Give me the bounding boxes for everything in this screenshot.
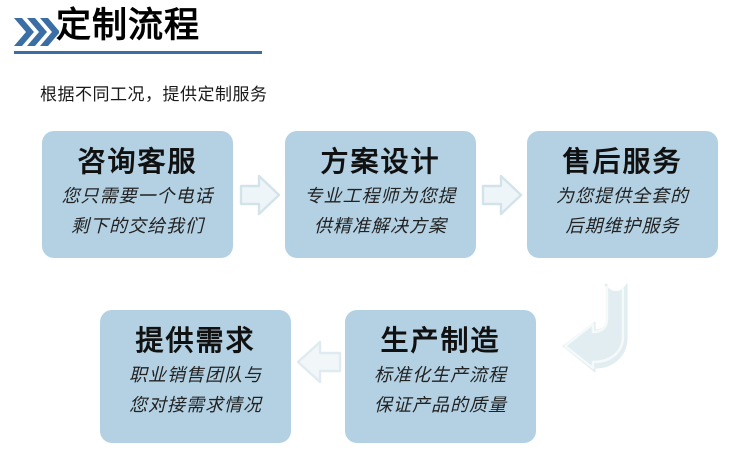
- flow-step-line: 职业销售团队与: [100, 360, 291, 390]
- flow-step-line: 供精准解决方案: [285, 211, 476, 241]
- flow-step-title: 方案设计: [285, 143, 476, 181]
- page-subtitle: 根据不同工况，提供定制服务: [40, 80, 268, 105]
- flow-step-card-4[interactable]: 提供需求 职业销售团队与 您对接需求情况: [100, 310, 291, 443]
- flow-step-title: 售后服务: [527, 143, 718, 181]
- flow-step-card-5[interactable]: 生产制造 标准化生产流程 保证产品的质量: [345, 310, 536, 443]
- flow-step-line: 剩下的交给我们: [42, 211, 233, 241]
- page-header: 定制流程: [0, 0, 750, 62]
- page-title: 定制流程: [56, 4, 200, 48]
- flow-step-line: 您只需要一个电话: [42, 181, 233, 211]
- flow-step-card-2[interactable]: 方案设计 专业工程师为您提 供精准解决方案: [285, 131, 476, 258]
- flow-step-line: 保证产品的质量: [345, 390, 536, 420]
- flow-step-line: 专业工程师为您提: [285, 181, 476, 211]
- arrow-right-icon: [481, 173, 523, 217]
- triple-chevron-right-icon: [13, 17, 59, 47]
- flow-step-line: 标准化生产流程: [345, 360, 536, 390]
- flow-step-line: 后期维护服务: [527, 211, 718, 241]
- title-underline: [14, 51, 262, 54]
- flow-step-card-3[interactable]: 售后服务 为您提供全套的 后期维护服务: [527, 131, 718, 258]
- flow-step-title: 咨询客服: [42, 143, 233, 181]
- flow-step-title: 生产制造: [345, 322, 536, 360]
- arrow-uturn-down-left-icon: [549, 282, 659, 374]
- arrow-left-icon: [296, 338, 342, 386]
- flow-step-line: 为您提供全套的: [527, 181, 718, 211]
- flow-step-card-1[interactable]: 咨询客服 您只需要一个电话 剩下的交给我们: [42, 131, 233, 258]
- flow-step-title: 提供需求: [100, 322, 291, 360]
- flow-step-line: 您对接需求情况: [100, 390, 291, 420]
- arrow-right-icon: [239, 173, 281, 217]
